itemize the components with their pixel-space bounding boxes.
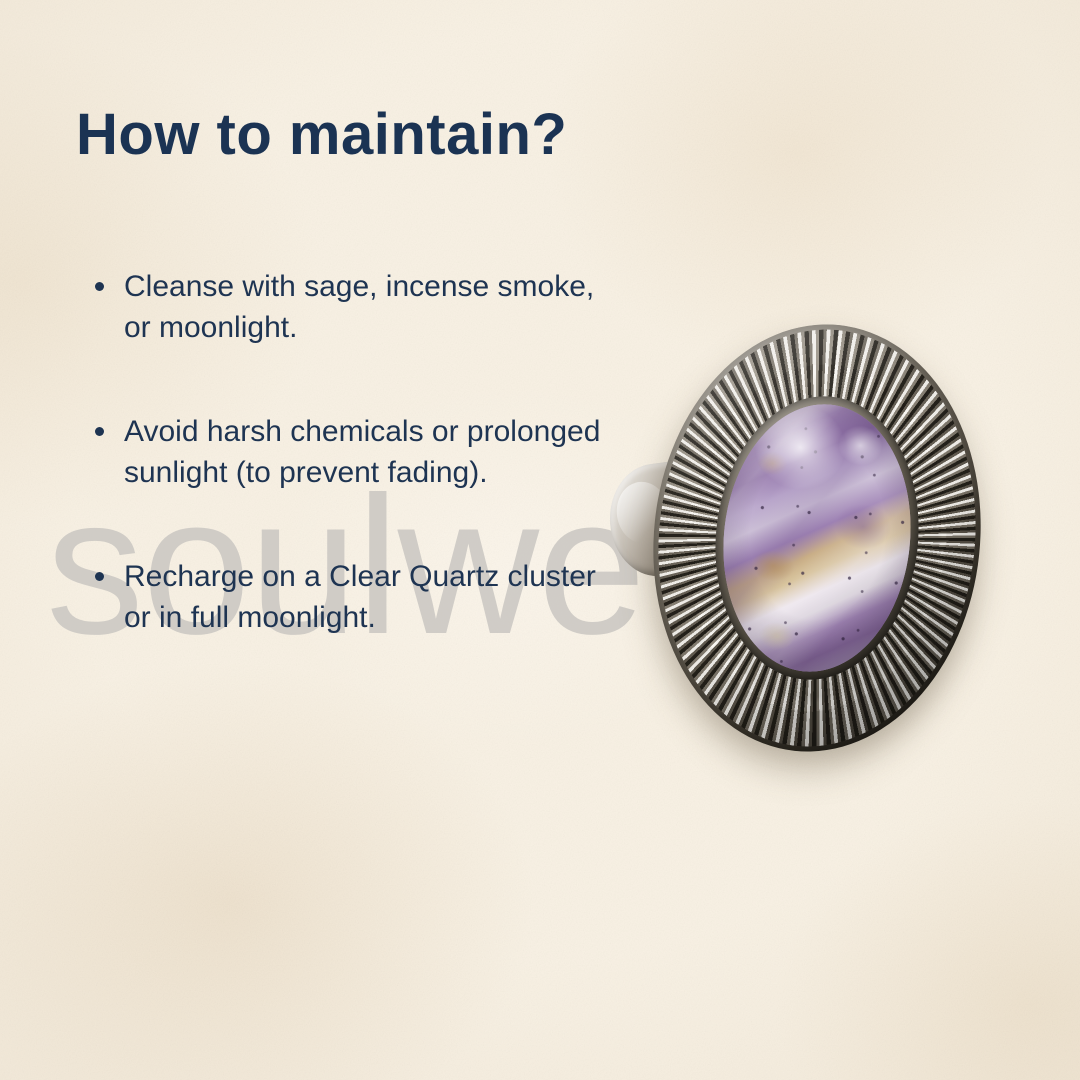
ring-bezel-rope-frame bbox=[633, 308, 1002, 768]
list-item-label: Avoid harsh chemicals or prolonged sunli… bbox=[124, 415, 600, 489]
care-instructions-list: Cleanse with sage, incense smoke, or moo… bbox=[90, 266, 610, 638]
bullet-dot-icon bbox=[95, 427, 104, 436]
bullet-dot-icon bbox=[95, 282, 104, 291]
bullet-dot-icon bbox=[95, 572, 104, 581]
page-title: How to maintain? bbox=[76, 104, 567, 167]
list-item: Cleanse with sage, incense smoke, or moo… bbox=[90, 266, 610, 349]
list-item-label: Cleanse with sage, incense smoke, or moo… bbox=[124, 270, 594, 344]
list-item-label: Recharge on a Clear Quartz cluster or in… bbox=[124, 560, 596, 634]
amethyst-cabochon bbox=[711, 395, 924, 681]
list-item: Recharge on a Clear Quartz cluster or in… bbox=[90, 556, 610, 639]
poster-canvas: soulwe How to maintain? Cleanse with sag… bbox=[0, 0, 1080, 1080]
list-item: Avoid harsh chemicals or prolonged sunli… bbox=[90, 411, 610, 494]
product-photo-amethyst-ring bbox=[596, 296, 1016, 766]
